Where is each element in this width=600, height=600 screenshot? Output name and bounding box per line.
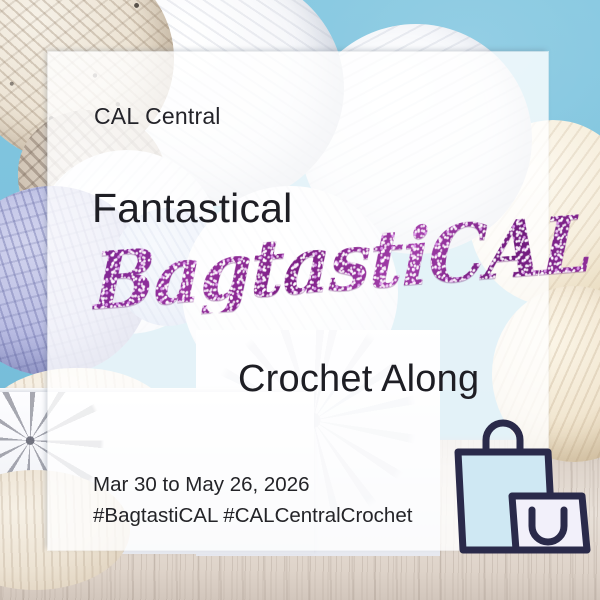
subheadline-text: Crochet Along: [238, 358, 479, 401]
promo-poster: CAL Central Fantastical BagtastiCAL Croc…: [0, 0, 600, 600]
hashtags-text: #BagtastiCAL #CALCentralCrochet: [93, 504, 412, 528]
large-bag-handle-icon: [486, 423, 520, 450]
shopping-bags-icon: [452, 414, 600, 594]
brand-name: CAL Central: [94, 103, 221, 130]
date-range-text: Mar 30 to May 26, 2026: [93, 473, 310, 497]
glitter-title: BagtastiCAL: [92, 248, 522, 348]
